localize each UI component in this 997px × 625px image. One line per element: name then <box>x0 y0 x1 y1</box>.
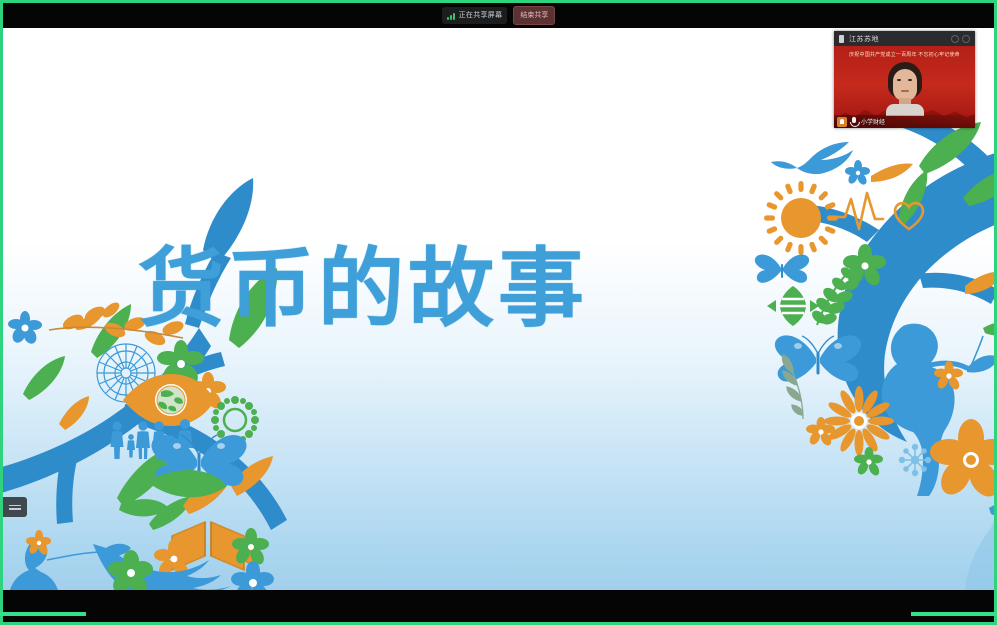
menu-handle-icon <box>9 505 21 507</box>
stop-sharing-button[interactable]: 结束共享 <box>513 6 555 25</box>
speaker-badge-icon <box>837 117 847 127</box>
screen-share-toolbar: 正在共享屏幕 结束共享 <box>3 3 994 28</box>
video-banner-text: 庆祝中国共产党成立一百周年 不忘初心牢记使命 <box>849 51 960 58</box>
video-panel-header: 江苏苏地 <box>834 31 975 46</box>
video-banner: 庆祝中国共产党成立一百周年 不忘初心牢记使命 <box>834 50 975 59</box>
participant-name-label: 小学财经 <box>861 117 885 126</box>
video-feed: 庆祝中国共产党成立一百周年 不忘初心牢记使命 小学财经 <box>834 46 975 128</box>
video-footer: 小学财经 <box>834 115 975 128</box>
signal-bars-icon <box>447 12 455 20</box>
video-conference-thumbnail[interactable]: 江苏苏地 庆祝中国共产党成立一百周年 不忘初心牢记使命 <box>834 31 975 128</box>
minimize-icon[interactable] <box>951 35 959 43</box>
expand-icon[interactable] <box>962 35 970 43</box>
recording-status-pill: 正在共享屏幕 <box>442 7 508 24</box>
screen-capture-window: 正在共享屏幕 结束共享 <box>0 0 997 625</box>
bottom-letterbox-bar <box>3 590 994 622</box>
video-panel-window-controls[interactable] <box>951 35 970 43</box>
recording-status-label: 正在共享屏幕 <box>459 11 503 21</box>
slide-title: 货币的故事 <box>3 246 723 332</box>
avatar <box>886 62 924 114</box>
collapsed-toolbar-handle[interactable] <box>3 497 27 517</box>
frame-corner-bottom-right <box>911 612 997 616</box>
menu-handle-icon <box>9 508 21 510</box>
participant-icon <box>839 35 844 43</box>
stop-sharing-label: 结束共享 <box>520 11 548 21</box>
microphone-icon[interactable] <box>850 117 858 127</box>
video-panel-title: 江苏苏地 <box>849 34 879 44</box>
frame-corner-bottom-left <box>0 612 86 616</box>
